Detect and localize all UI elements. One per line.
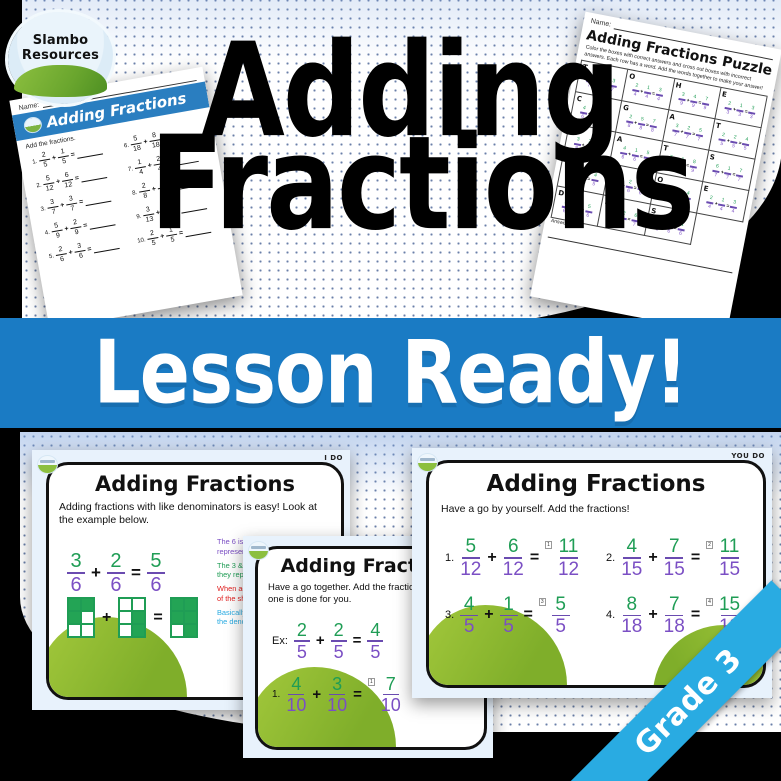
answer-tag: 1 [368, 678, 375, 686]
operator: = [83, 222, 88, 230]
operator: + [56, 178, 61, 186]
area-model-cell [68, 598, 81, 611]
numerator: 1 [721, 198, 725, 203]
denominator: 3 [749, 115, 753, 120]
fraction: 79 [701, 97, 710, 112]
slide-problems: 1.512+612=111122.415+715=211153.45+15=35… [445, 537, 753, 636]
operator: + [316, 632, 325, 649]
numerator: 2 [73, 219, 78, 227]
numerator: 5 [54, 222, 59, 230]
numerator: 5 [555, 595, 566, 614]
fraction: 612 [61, 171, 75, 190]
operator: + [484, 606, 493, 624]
area-model [118, 597, 146, 638]
denominator: 4 [731, 209, 735, 214]
denominator: 6 [78, 252, 83, 260]
fraction: 26 [54, 245, 68, 264]
slide-problem: 3.45+15=355 [445, 595, 592, 637]
denominator: 3 [726, 110, 730, 115]
fraction: 67 [712, 164, 721, 179]
area-model-cell [132, 611, 145, 624]
numerator: 3 [68, 195, 73, 203]
lesson-ready-banner: Lesson Ready! [0, 318, 781, 428]
fraction: 17 [723, 166, 732, 181]
numerator: 1 [137, 159, 142, 167]
area-model-cell [119, 598, 132, 611]
numerator: 5 [698, 129, 702, 134]
denominator: 12 [45, 184, 54, 192]
logo-icon [248, 541, 269, 560]
numerator: 1 [503, 595, 514, 614]
numerator: 2 [709, 196, 713, 201]
problem-number: 4. [40, 229, 50, 236]
denominator: 4 [139, 169, 144, 177]
logo-icon [23, 116, 44, 135]
numerator: 8 [626, 595, 637, 614]
operator: + [648, 606, 657, 624]
fraction: 36 [67, 551, 85, 595]
fraction: 25 [294, 621, 310, 661]
fraction: 33 [747, 106, 756, 121]
numerator: 7 [669, 537, 680, 556]
denominator: 4 [719, 207, 723, 212]
denominator: 5 [297, 643, 307, 661]
fraction: 512 [42, 174, 56, 193]
fraction: 23 [724, 101, 733, 116]
problem-number: 1. [28, 158, 38, 165]
area-model-cell [119, 611, 132, 624]
denominator: 5 [334, 643, 344, 661]
fraction: 518 [129, 135, 143, 154]
slide-corner-label: I DO [324, 454, 343, 462]
operator: = [87, 246, 92, 254]
numerator: 2 [334, 621, 344, 639]
fraction: 45 [741, 137, 750, 152]
numerator: 1 [727, 167, 731, 172]
area-model-cell [184, 598, 197, 611]
denominator: 10 [327, 696, 347, 714]
slide-corner-label: YOU DO [731, 452, 765, 460]
operator: + [102, 609, 111, 627]
denominator: 5 [370, 643, 380, 661]
fraction: 45 [460, 595, 478, 637]
operator: = [530, 549, 539, 567]
area-model-cell [184, 624, 197, 637]
numerator: 7 [386, 675, 396, 693]
numerator: 2 [733, 135, 737, 140]
fraction: 37 [65, 195, 79, 214]
area-model-cell [81, 624, 94, 637]
problem-number: 9. [132, 213, 142, 220]
area-model-cell [132, 624, 145, 637]
fraction: 26 [107, 551, 125, 595]
numerator: 5 [465, 537, 476, 556]
example-equation: 36+26=56 [67, 551, 165, 595]
problem-number: 6. [119, 142, 129, 149]
fraction: 1112 [558, 537, 579, 579]
area-model [170, 597, 198, 638]
fraction: 718 [664, 595, 685, 637]
fraction: 49 [689, 95, 698, 110]
brand-text: Slambo Resources [8, 34, 113, 64]
numerator: 4 [464, 595, 475, 614]
fraction: 36 [73, 242, 87, 261]
fraction: 512 [460, 537, 481, 579]
problem-number: 7. [124, 166, 134, 173]
slide-title: Adding Fractions [429, 463, 763, 497]
denominator: 5 [720, 141, 724, 146]
fraction: 55 [552, 595, 570, 637]
denominator: 9 [56, 232, 61, 240]
fraction: 710 [381, 675, 401, 715]
denominator: 12 [503, 560, 524, 579]
example-label: Ex: [272, 635, 288, 647]
worksheet-column-left: 1.25+15=2.512+612=3.37+37=4.59+29=5.26+3… [27, 139, 132, 265]
denominator: 12 [558, 560, 579, 579]
area-model-cell [171, 598, 184, 611]
fraction: 15 [57, 147, 71, 166]
operator: + [143, 138, 148, 146]
numerator: 3 [50, 199, 55, 207]
numerator: 2 [297, 621, 307, 639]
denominator: 7 [70, 205, 75, 213]
product-cover: Name: Adding Fractions Add the fractions… [0, 0, 781, 781]
numerator: 5 [133, 135, 138, 143]
denominator: 6 [70, 575, 81, 595]
brand-line-1: Slambo [8, 34, 113, 49]
fraction: 29 [69, 218, 83, 237]
fraction: 818 [621, 595, 642, 637]
denominator: 9 [691, 103, 695, 108]
numerator: 4 [370, 621, 380, 639]
denominator: 15 [719, 560, 740, 579]
fraction: 59 [50, 222, 64, 241]
numerator: 6 [715, 165, 719, 170]
logo-icon [417, 453, 438, 472]
answer-blank[interactable] [84, 193, 111, 206]
denominator: 9 [703, 106, 707, 111]
problem-number: 1. [272, 689, 280, 700]
logo-icon [37, 455, 58, 474]
numerator: 5 [45, 175, 50, 183]
denominator: 7 [725, 175, 729, 180]
numerator: 5 [150, 551, 161, 571]
denominator: 10 [381, 696, 401, 714]
denominator: 7 [697, 137, 701, 142]
operator: = [691, 606, 700, 624]
numerator: 15 [719, 595, 740, 614]
fraction: 715 [664, 537, 685, 579]
denominator: 8 [143, 192, 148, 200]
fraction: 14 [717, 198, 726, 213]
fraction: 57 [695, 128, 704, 143]
numerator: 7 [739, 169, 743, 174]
fraction: 37 [46, 198, 60, 217]
numerator: 3 [70, 551, 81, 571]
brand-logo: Slambo Resources [8, 12, 113, 104]
fraction: 39 [677, 92, 686, 107]
operator: = [79, 199, 84, 207]
numerator: 3 [733, 201, 737, 206]
numerator: 7 [669, 595, 680, 614]
fraction: 14 [134, 158, 148, 177]
numerator: 6 [64, 172, 69, 180]
denominator: 18 [133, 145, 142, 153]
numerator: 3 [332, 675, 342, 693]
fraction: 45 [367, 621, 383, 661]
numerator: 3 [681, 93, 685, 98]
fraction: 34 [729, 200, 738, 215]
fraction: 25 [38, 151, 52, 170]
answer-blank[interactable] [93, 240, 120, 253]
example-area-models: += [67, 597, 198, 638]
slide-subtitle: Have a go by yourself. Add the fractions… [429, 497, 763, 515]
denominator: 15 [664, 560, 685, 579]
denominator: 5 [743, 146, 747, 151]
numerator: 2 [41, 151, 46, 159]
numerator: 7 [705, 97, 709, 102]
denominator: 12 [460, 560, 481, 579]
operator: + [51, 155, 56, 163]
numerator: 3 [77, 243, 82, 251]
fraction: 15 [500, 595, 518, 637]
slide-problem: 2.415+715=21115 [606, 537, 753, 579]
operator: + [64, 225, 69, 233]
fraction: 25 [331, 621, 347, 661]
denominator: 18 [621, 617, 642, 636]
denominator: 5 [555, 617, 566, 636]
slide-problem: 1.512+612=11112 [445, 537, 592, 579]
fraction: 56 [147, 551, 165, 595]
numerator: 2 [141, 182, 146, 190]
answer-blank[interactable] [76, 145, 103, 158]
problem-number: 2. [606, 552, 615, 564]
denominator: 6 [60, 256, 65, 264]
area-model-cell [68, 624, 81, 637]
area-model-cell [132, 598, 145, 611]
operator: + [487, 549, 496, 567]
fraction: 1115 [719, 537, 740, 579]
brand-line-2: Resources [8, 49, 113, 64]
numerator: 3 [751, 106, 755, 111]
operator: + [312, 686, 321, 703]
banner-text: Lesson Ready! [94, 322, 688, 423]
answer-blank[interactable] [80, 169, 107, 182]
fraction: 13 [736, 104, 745, 119]
denominator: 5 [62, 158, 67, 166]
problem-number: 3. [445, 609, 454, 621]
answer-blank[interactable] [89, 216, 116, 229]
answer-tag: 3 [539, 598, 546, 606]
denominator: 5 [43, 161, 48, 169]
numerator: 4 [693, 95, 697, 100]
denominator: 5 [464, 617, 475, 636]
answer-tag: 4 [706, 598, 713, 606]
hill-icon [14, 65, 106, 96]
numerator: 2 [721, 133, 725, 138]
operator: = [691, 549, 700, 567]
denominator: 6 [150, 575, 161, 595]
problem-number: 5. [45, 253, 55, 260]
fraction: 612 [503, 537, 524, 579]
slide-subtitle: Adding fractions with like denominators … [49, 496, 341, 527]
answer-tag: 2 [706, 541, 713, 549]
denominator: 6 [110, 575, 121, 595]
answer-tag: 1 [545, 541, 552, 549]
denominator: 9 [680, 101, 684, 106]
denominator: 3 [738, 112, 742, 117]
operator: = [153, 609, 162, 627]
denominator: 12 [64, 181, 73, 189]
operator: = [70, 151, 75, 159]
area-model-cell [81, 598, 94, 611]
denominator: 9 [74, 229, 79, 237]
problem-number: 4. [606, 609, 615, 621]
problem-number: 10. [136, 237, 146, 244]
numerator: 11 [559, 537, 579, 556]
fraction: 410 [286, 675, 306, 715]
operator: + [648, 549, 657, 567]
numerator: 11 [720, 537, 740, 556]
fraction: 24 [706, 196, 715, 211]
problem-number: 8. [128, 190, 138, 197]
problem-number: 3. [36, 206, 46, 213]
operator: = [353, 686, 362, 703]
area-model-cell [184, 611, 197, 624]
fraction: 415 [621, 537, 642, 579]
denominator: 10 [286, 696, 306, 714]
numerator: 4 [626, 537, 637, 556]
fraction: 25 [718, 133, 727, 148]
area-model-cell [68, 611, 81, 624]
denominator: 15 [621, 560, 642, 579]
area-model-cell [119, 624, 132, 637]
denominator: 7 [51, 208, 56, 216]
operator: + [68, 249, 73, 257]
area-model-cell [171, 624, 184, 637]
area-model [67, 597, 95, 638]
area-model-cell [171, 611, 184, 624]
operator: = [353, 632, 362, 649]
slide-title: Adding Fractions [49, 465, 341, 496]
operator: = [131, 563, 141, 583]
numerator: 4 [291, 675, 301, 693]
fraction: 77 [735, 169, 744, 184]
numerator: 6 [508, 537, 519, 556]
numerator: 1 [739, 104, 743, 109]
problem-number: 2. [32, 182, 42, 189]
denominator: 18 [664, 617, 685, 636]
operator: + [60, 202, 65, 210]
denominator: 4 [708, 204, 712, 209]
page-title: Adding Fractions [150, 46, 670, 232]
numerator: 2 [728, 102, 732, 107]
area-model-cell [81, 611, 94, 624]
denominator: 7 [714, 173, 718, 178]
operator: = [524, 606, 533, 624]
operator: + [91, 563, 101, 583]
numerator: 2 [58, 246, 63, 254]
title-line-2: Fractions [150, 130, 670, 241]
numerator: 1 [60, 148, 65, 156]
operator: = [74, 175, 79, 183]
denominator: 7 [737, 177, 741, 182]
numerator: 4 [745, 138, 749, 143]
fraction: 25 [729, 135, 738, 150]
numerator: 2 [110, 551, 121, 571]
problem-number: 1. [445, 552, 454, 564]
fraction: 310 [327, 675, 347, 715]
equation-row: 36+26=56 [67, 551, 165, 595]
denominator: 5 [732, 144, 736, 149]
denominator: 5 [503, 617, 514, 636]
